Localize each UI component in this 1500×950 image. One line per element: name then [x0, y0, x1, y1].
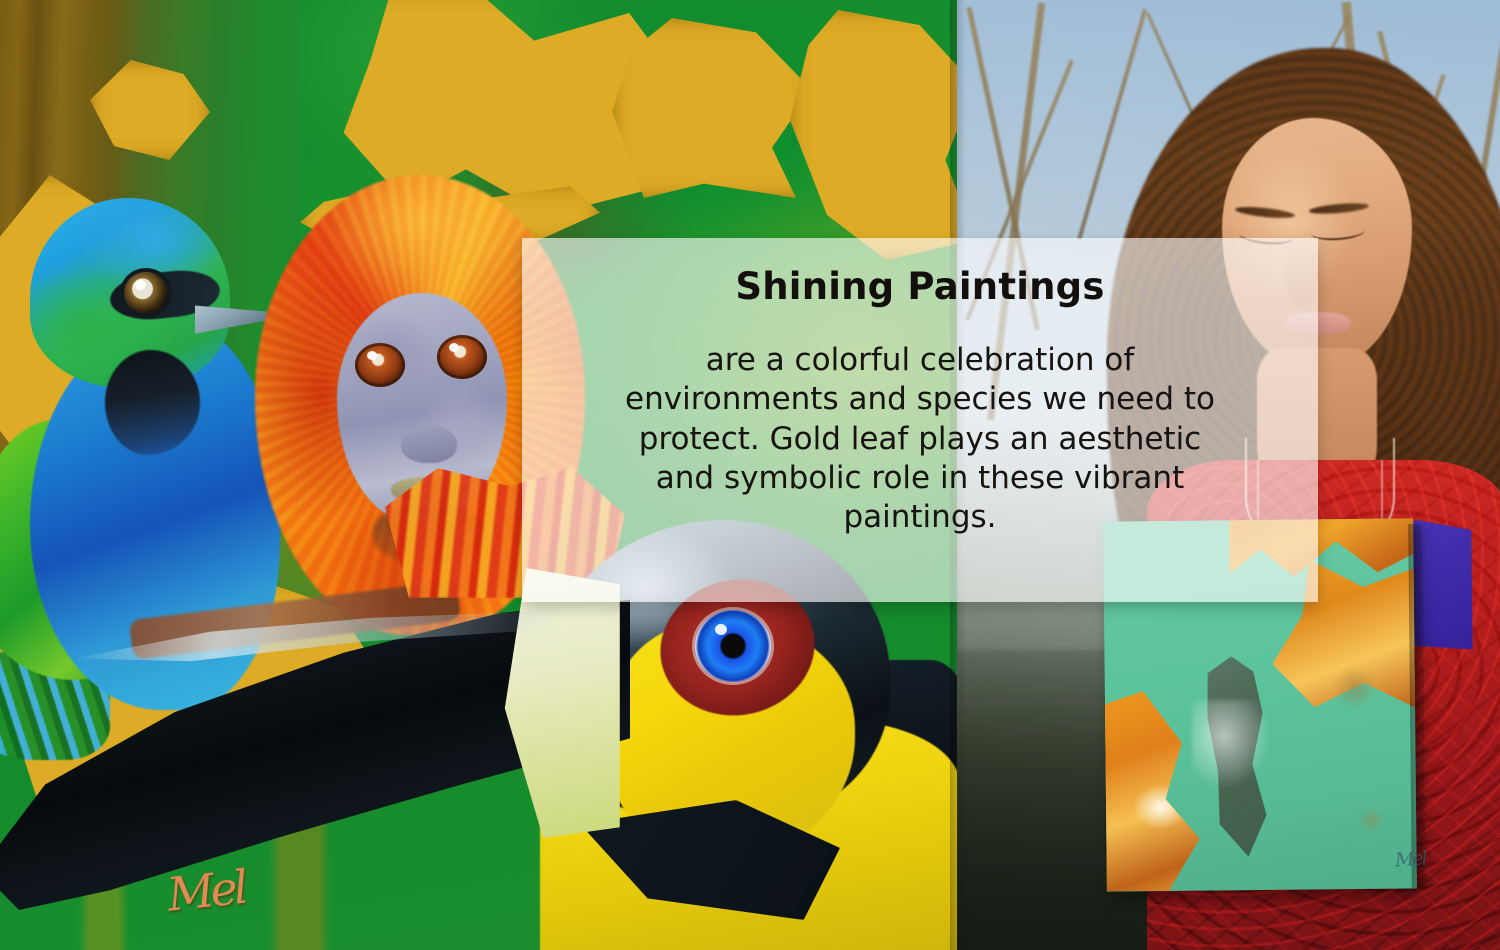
overlay-title: Shining Paintings	[735, 268, 1104, 307]
text-overlay-panel: Shining Paintings are a colorful celebra…	[522, 238, 1318, 602]
artist-signature-left: Mel	[165, 856, 282, 937]
toucan-beak-base	[500, 568, 620, 838]
artist-signature-canvas: Mel	[1394, 846, 1440, 875]
tamarin-eye-right	[437, 335, 487, 379]
canvas-blotch	[1358, 809, 1384, 831]
whale-foam	[1192, 700, 1272, 790]
canvas-blotch	[1331, 669, 1379, 708]
hero-banner: Mel	[0, 0, 1500, 950]
bird-eye	[124, 272, 168, 314]
tamarin-eye-left	[355, 343, 405, 387]
tamarin-nose	[401, 425, 457, 463]
toucan-eye	[695, 610, 771, 682]
overlay-body: are a colorful celebration of environmen…	[560, 341, 1280, 538]
